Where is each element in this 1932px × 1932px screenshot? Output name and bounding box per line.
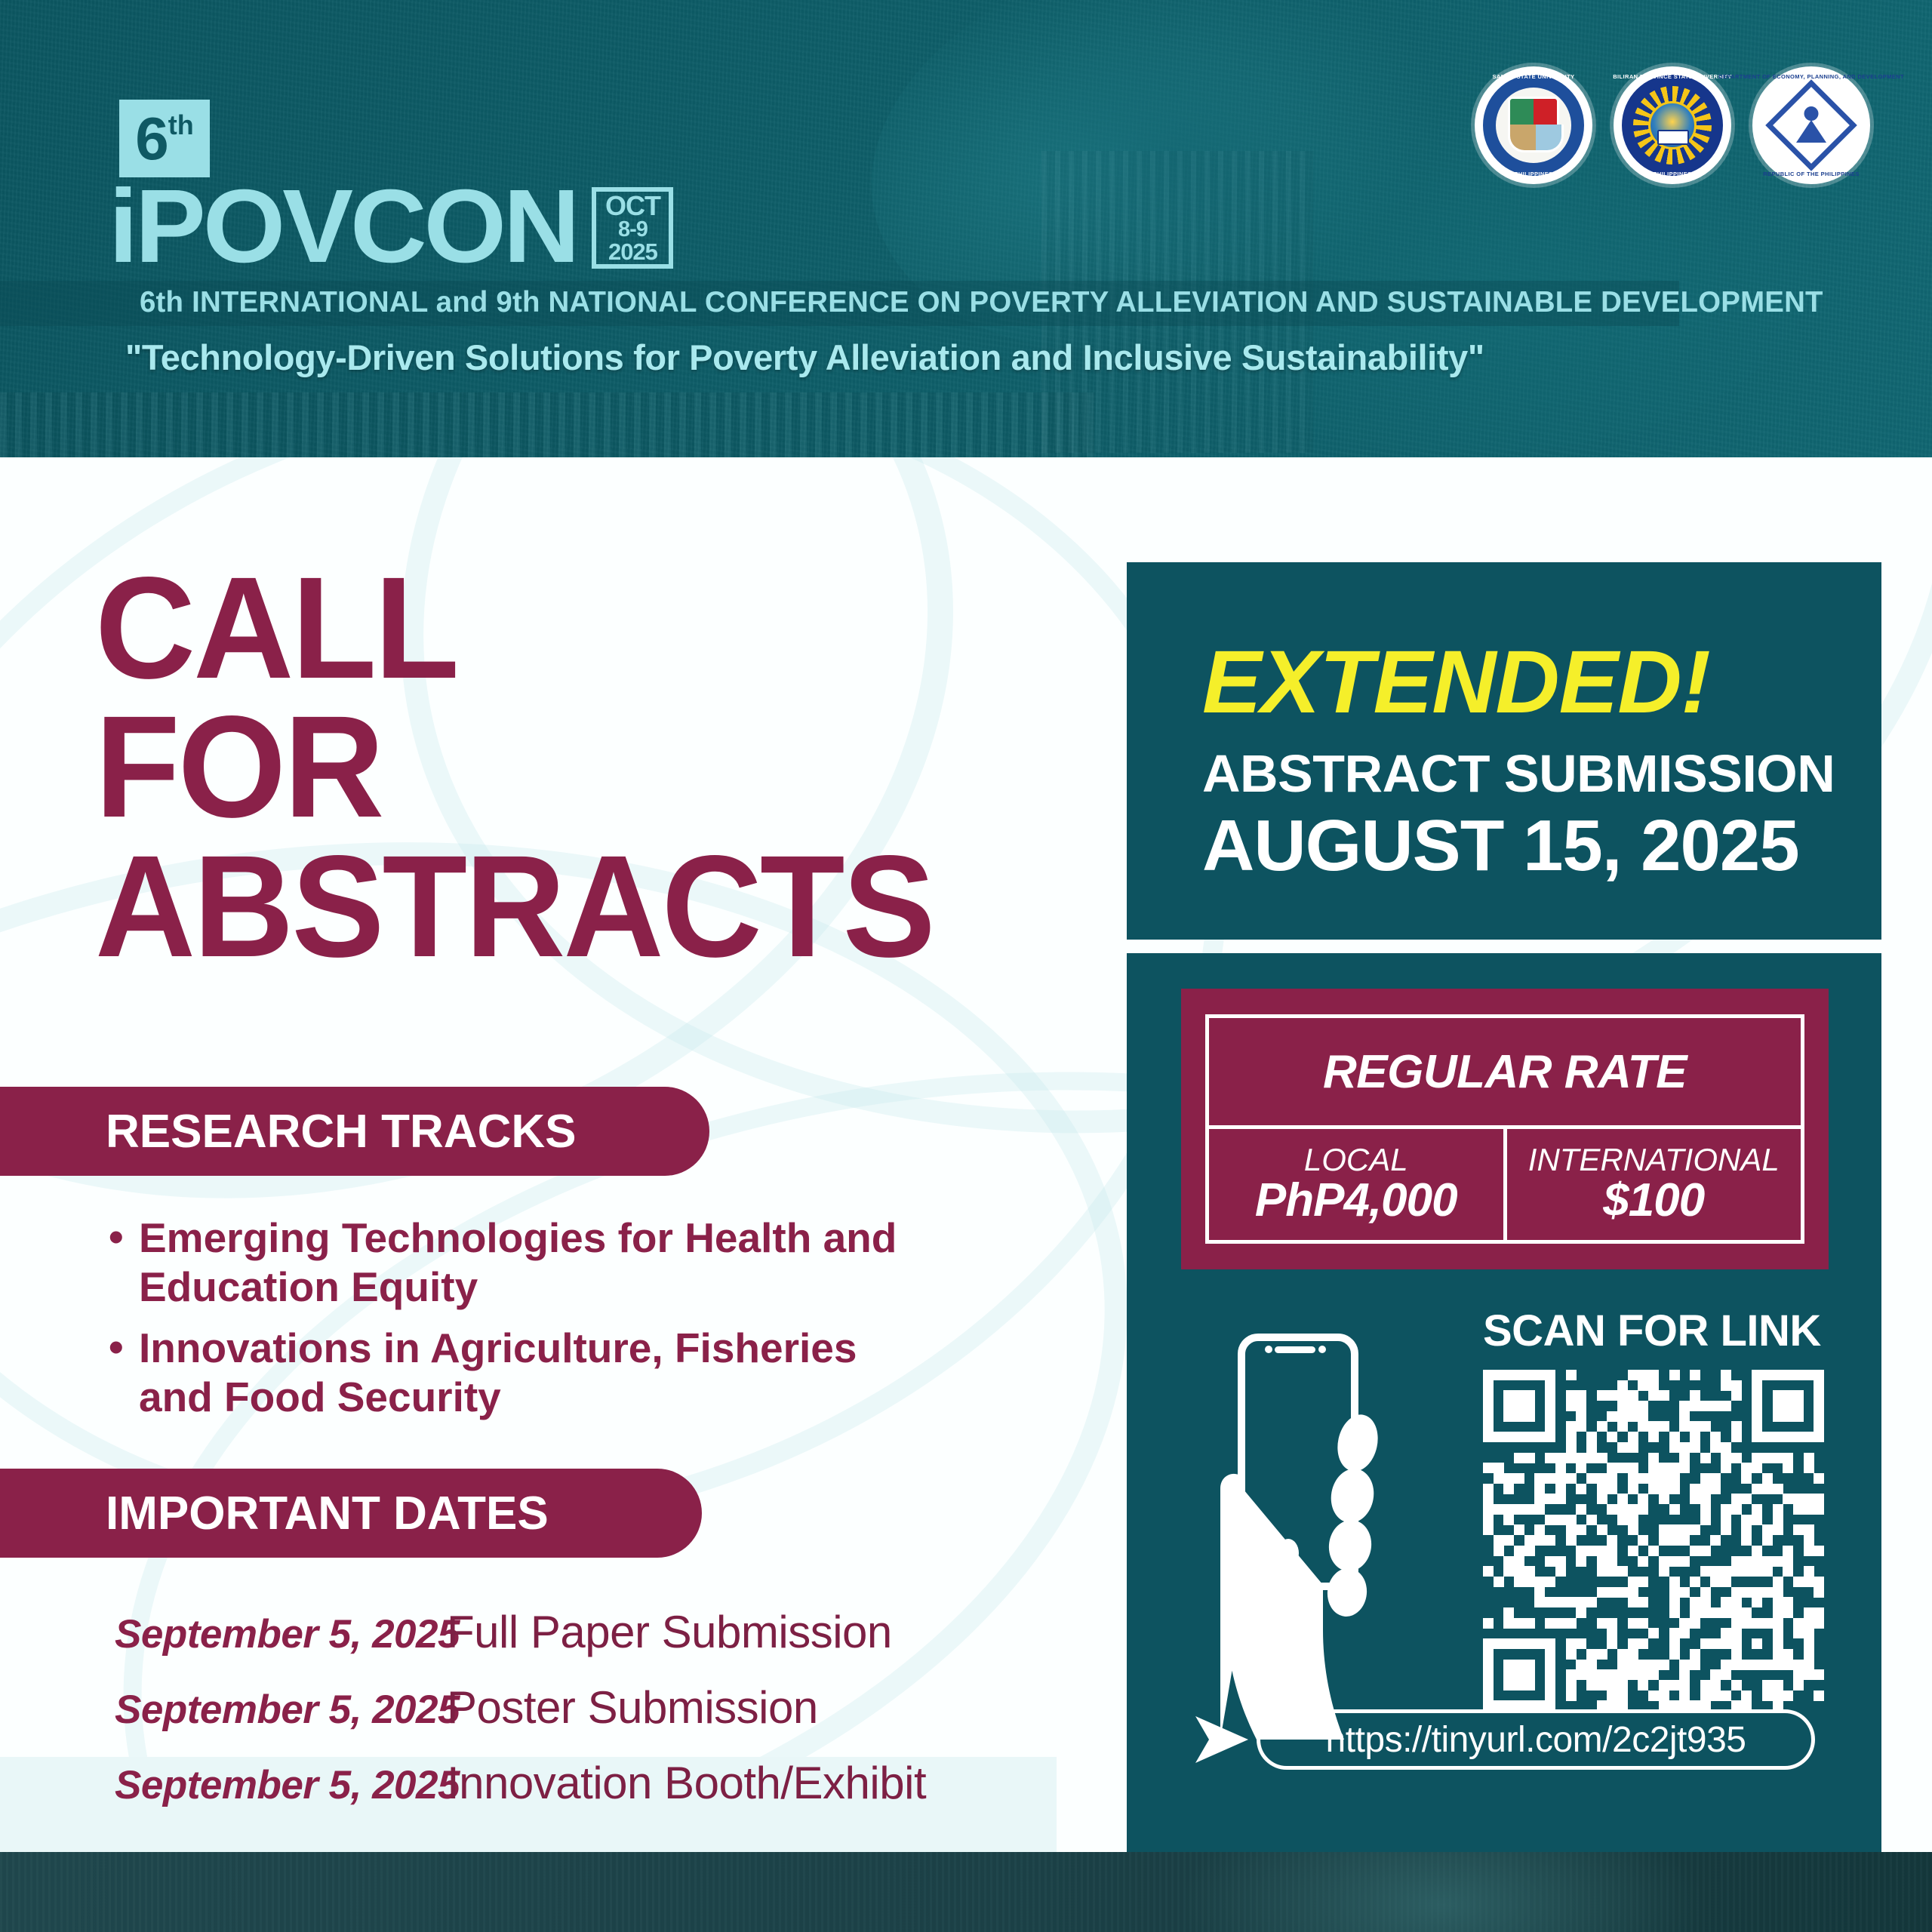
biliran-province-state-university-seal-icon: BILIRAN PROVINCE STATE UNIVERSITY PHILIP…: [1614, 66, 1731, 184]
headline-line-2: FOR: [95, 697, 934, 836]
ipovcon-wordmark: iPOVCON: [109, 180, 577, 273]
edition-number: 6: [135, 113, 168, 165]
scan-url-text: https://tinyurl.com/2c2jt935: [1326, 1719, 1746, 1761]
rate-international-value: $100: [1603, 1177, 1704, 1224]
abstract-submission-label: ABSTRACT SUBMISSION: [1202, 747, 1835, 800]
poster-footer: [0, 1852, 1932, 1932]
conference-tagline: "Technology-Driven Solutions for Poverty…: [125, 337, 1484, 378]
rate-international-label: INTERNATIONAL: [1528, 1144, 1780, 1177]
scan-for-link-label: SCAN FOR LINK: [1483, 1306, 1821, 1356]
headline-line-1: CALL: [95, 558, 934, 697]
date-year: 2025: [608, 241, 657, 263]
edition-badge: 6 th: [119, 100, 210, 177]
date-value: September 5, 2025: [115, 1762, 447, 1808]
list-item: Innovations in Agriculture, Fisheries an…: [106, 1324, 906, 1422]
rate-cell-local: LOCAL PhP4,000: [1209, 1129, 1507, 1240]
brand-lockup: iPOVCON OCT 8-9 2025: [113, 180, 673, 273]
date-days: 8-9: [618, 219, 648, 240]
rate-cell-international: INTERNATIONAL $100: [1507, 1129, 1801, 1240]
table-row: September 5, 2025 Poster Submission: [0, 1681, 1057, 1757]
abstract-deadline-date: AUGUST 15, 2025: [1202, 810, 1799, 882]
rate-local-label: LOCAL: [1304, 1144, 1408, 1177]
hand-holding-phone-icon: [1210, 1328, 1459, 1751]
rate-table-title-row: REGULAR RATE: [1209, 1018, 1801, 1129]
date-item: Poster Submission: [447, 1681, 818, 1734]
department-of-economy-planning-development-seal-icon: DEPARTMENT OF ECONOMY, PLANNING, AND DEV…: [1752, 66, 1870, 184]
table-row: September 5, 2025 Innovation Booth/Exhib…: [0, 1757, 1057, 1832]
poster-canvas: 6 th iPOVCON OCT 8-9 2025 6th INTERNATIO…: [0, 0, 1932, 1932]
header-texture-strip-left: [0, 392, 1094, 457]
page-title: CALL FOR ABSTRACTS: [95, 558, 934, 976]
important-dates-pill: IMPORTANT DATES: [0, 1469, 702, 1558]
qr-code-icon[interactable]: [1483, 1370, 1824, 1711]
partner-seals: SAMAR STATE UNIVERSITY PHILIPPINES BILIR…: [1475, 66, 1870, 184]
rate-local-value: PhP4,000: [1255, 1177, 1457, 1224]
research-tracks-label: RESEARCH TRACKS: [106, 1105, 576, 1158]
headline-line-3: ABSTRACTS: [95, 837, 934, 976]
extended-badge: EXTENDED!: [1202, 638, 1710, 727]
date-value: September 5, 2025: [115, 1611, 447, 1657]
date-month: OCT: [605, 192, 660, 219]
important-dates-table: September 5, 2025 Full Paper Submission …: [0, 1606, 1057, 1832]
conference-date-box: OCT 8-9 2025: [592, 187, 673, 269]
paper-plane-arrow-icon: [1191, 1712, 1260, 1767]
date-item: Full Paper Submission: [447, 1606, 892, 1658]
scan-url-pill[interactable]: https://tinyurl.com/2c2jt935: [1257, 1709, 1815, 1770]
conference-subtitle: 6th INTERNATIONAL and 9th NATIONAL CONFE…: [140, 286, 1823, 319]
research-tracks-list: Emerging Technologies for Health and Edu…: [106, 1214, 906, 1434]
list-item: Emerging Technologies for Health and Edu…: [106, 1214, 906, 1312]
table-row: September 5, 2025 Full Paper Submission: [0, 1606, 1057, 1681]
rate-table-title: REGULAR RATE: [1323, 1045, 1687, 1099]
important-dates-label: IMPORTANT DATES: [106, 1487, 549, 1540]
research-tracks-pill: RESEARCH TRACKS: [0, 1087, 709, 1176]
samar-state-university-seal-icon: SAMAR STATE UNIVERSITY PHILIPPINES: [1475, 66, 1592, 184]
date-item: Innovation Booth/Exhibit: [447, 1757, 926, 1809]
date-value: September 5, 2025: [115, 1687, 447, 1733]
rate-table: REGULAR RATE LOCAL PhP4,000 INTERNATIONA…: [1181, 989, 1829, 1269]
edition-ordinal: th: [168, 112, 194, 139]
